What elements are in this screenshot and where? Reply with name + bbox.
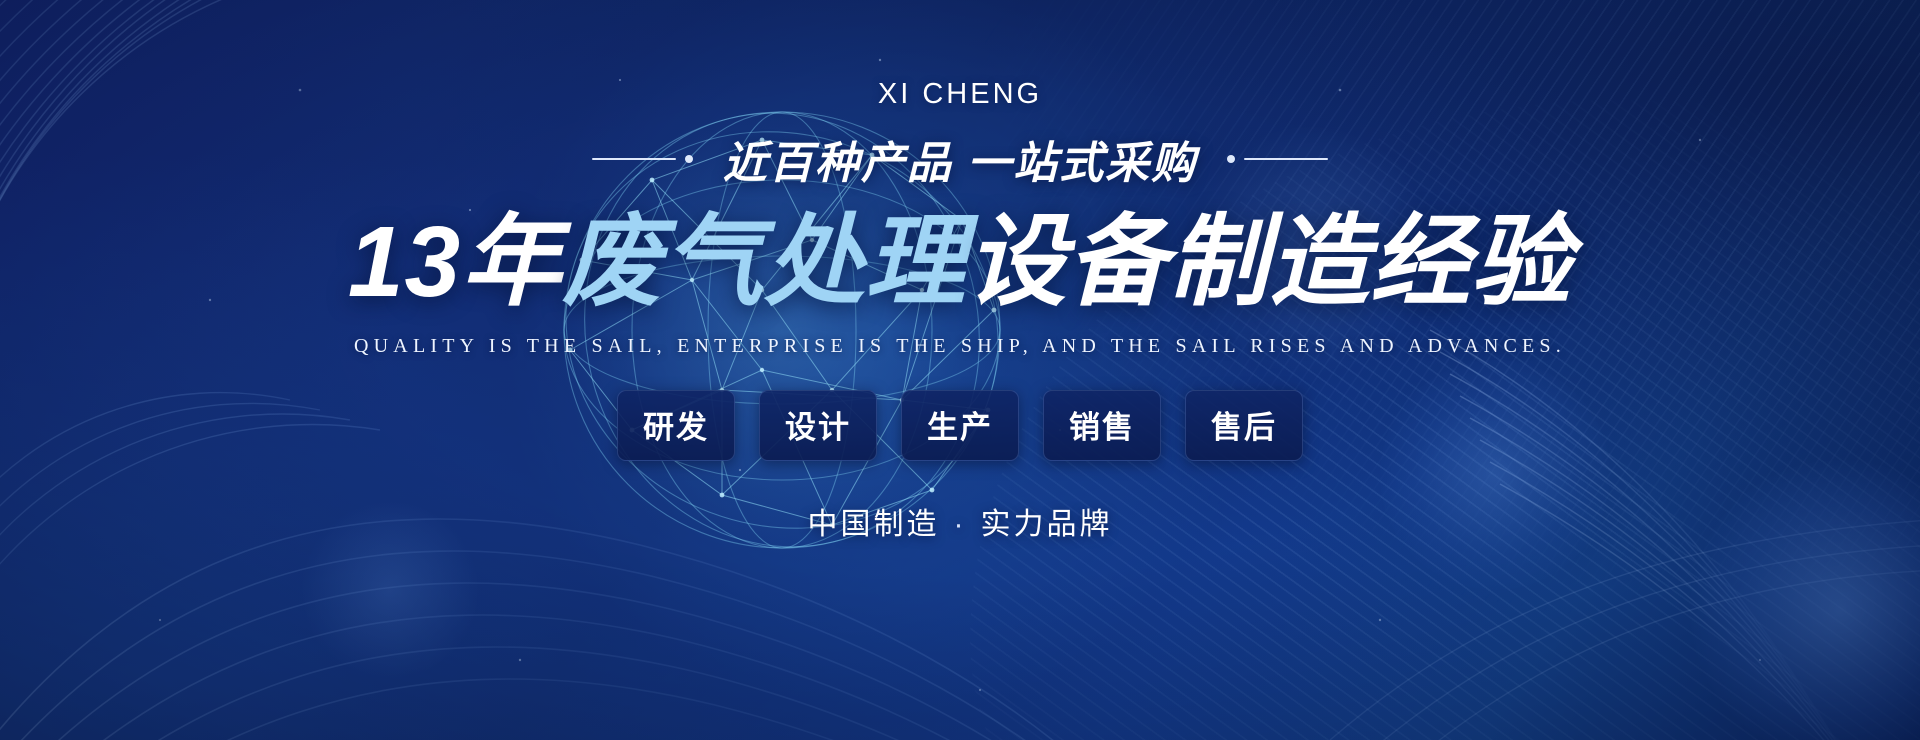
banner-content: XI CHENG 近百种产品 一站式采购 13年废气处理设备制造经验 QUALI… <box>0 0 1920 740</box>
service-tag-production[interactable]: 生产 <box>901 390 1019 461</box>
headline-lead: 13年 <box>348 206 562 318</box>
service-tag-sales[interactable]: 销售 <box>1043 390 1161 461</box>
banner-tagline-english: QUALITY IS THE SAIL, ENTERPRISE IS THE S… <box>354 335 1566 358</box>
banner-subtitle: 近百种产品 一站式采购 <box>723 127 1197 191</box>
decor-bar-right <box>1244 158 1328 160</box>
decor-dot-right <box>1227 155 1235 163</box>
headline-tail: 设备制造经验 <box>966 206 1572 318</box>
brand-name-english: XI CHENG <box>878 78 1042 111</box>
hero-banner: XI CHENG 近百种产品 一站式采购 13年废气处理设备制造经验 QUALI… <box>0 0 1920 740</box>
decor-line-left <box>592 155 693 163</box>
service-tag-list: 研发 设计 生产 销售 售后 <box>617 390 1303 461</box>
subtitle-row: 近百种产品 一站式采购 <box>592 127 1328 191</box>
footer-text-left: 中国制造 <box>808 508 940 541</box>
decor-bar-left <box>592 158 676 160</box>
service-tag-aftersales[interactable]: 售后 <box>1185 390 1303 461</box>
decor-line-right <box>1227 155 1328 163</box>
banner-footer-line: 中国制造·实力品牌 <box>808 499 1113 543</box>
banner-headline: 13年废气处理设备制造经验 <box>348 203 1572 321</box>
footer-separator: · <box>940 508 981 541</box>
footer-text-right: 实力品牌 <box>981 508 1113 541</box>
headline-highlight: 废气处理 <box>562 206 966 318</box>
service-tag-rd[interactable]: 研发 <box>617 390 735 461</box>
decor-dot-left <box>685 155 693 163</box>
service-tag-design[interactable]: 设计 <box>759 390 877 461</box>
